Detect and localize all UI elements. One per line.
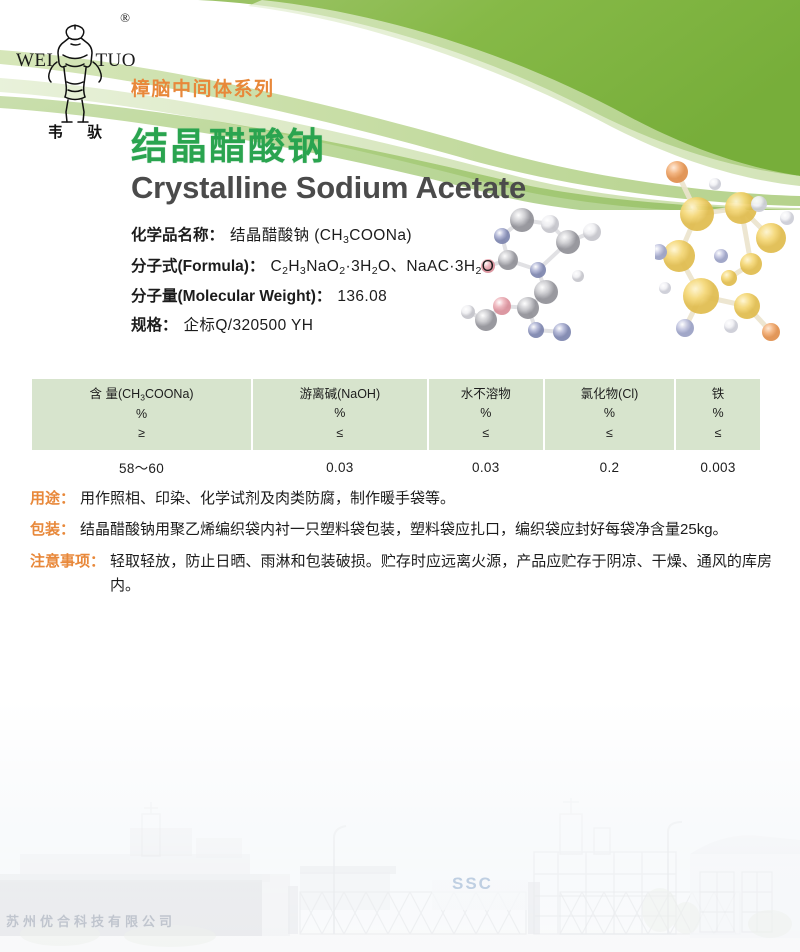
column-operator: ≥: [36, 424, 247, 443]
column-operator: ≤: [680, 424, 756, 443]
gate-logo-text: SSC: [452, 874, 493, 894]
specification-table: 含 量(CH3COONa) % ≥ 游离碱(NaOH) % ≤ 水不溶物 % ≤…: [32, 379, 760, 483]
table-value-cell: 0.03: [253, 450, 429, 483]
note-usage: 用途： 用作照相、印染、化学试剂及肉类防腐，制作暖手袋等。: [30, 487, 772, 511]
column-unit: %: [257, 404, 423, 423]
table-header-cell: 铁 % ≤: [676, 379, 760, 450]
table-value-cell: 0.003: [676, 450, 760, 483]
note-text: 结晶醋酸钠用聚乙烯编织袋内衬一只塑料袋包装，塑料袋应扎口，编织袋应封好每袋净含量…: [80, 518, 772, 542]
table-header-cell: 游离碱(NaOH) % ≤: [253, 379, 429, 450]
column-unit: %: [36, 405, 247, 424]
spec-label: 化学品名称：: [131, 226, 224, 245]
column-unit: %: [680, 404, 756, 423]
table-value-cell: 58～60: [32, 450, 253, 483]
spec-row: 分子量(Molecular Weight)： 136.08: [131, 287, 651, 306]
table-header-cell: 氯化物(Cl) % ≤: [545, 379, 676, 450]
spec-row: 分子式(Formula)： C2H3NaO2·3H2O、NaAC·3H2O: [131, 257, 651, 278]
note-label: 包装：: [30, 518, 75, 542]
column-operator: ≤: [433, 424, 539, 443]
page-title-cn: 结晶醋酸钠: [131, 128, 326, 165]
spec-value: 结晶醋酸钠 (CH3COONa): [230, 226, 412, 247]
brochure-page: ® WEI TUO: [0, 0, 800, 952]
factory-photo: 苏州优合科技有限公司 SSC: [0, 642, 800, 952]
column-operator: ≤: [257, 424, 423, 443]
column-operator: ≤: [549, 424, 670, 443]
column-name: 游离碱(NaOH): [257, 385, 423, 404]
table-value-cell: 0.2: [545, 450, 676, 483]
column-name: 铁: [680, 385, 756, 404]
column-name: 含 量(CH3COONa): [36, 385, 247, 405]
note-packaging: 包装： 结晶醋酸钠用聚乙烯编织袋内衬一只塑料袋包装，塑料袋应扎口，编织袋应封好每…: [30, 518, 772, 542]
column-unit: %: [549, 404, 670, 423]
column-name: 氯化物(Cl): [549, 385, 670, 404]
logo-text-cn: 韦 驮: [14, 121, 136, 142]
spec-value: 企标Q/320500 YH: [184, 316, 314, 335]
warrior-figure-icon: [44, 22, 106, 126]
molecule-model-gold-icon: [655, 160, 800, 360]
table-header-row: 含 量(CH3COONa) % ≥ 游离碱(NaOH) % ≤ 水不溶物 % ≤…: [32, 379, 760, 450]
table-value-cell: 0.03: [429, 450, 545, 483]
spec-row: 规格： 企标Q/320500 YH: [131, 316, 651, 335]
spec-value: C2H3NaO2·3H2O、NaAC·3H2O: [270, 257, 494, 278]
note-text: 轻取轻放，防止日晒、雨淋和包装破损。贮存时应远离火源，产品应贮存于阴凉、干燥、通…: [110, 550, 772, 599]
spec-row: 化学品名称： 结晶醋酸钠 (CH3COONa): [131, 226, 651, 247]
note-label: 注意事项：: [30, 550, 105, 574]
spec-value: 136.08: [337, 287, 387, 306]
column-name: 水不溶物: [433, 385, 539, 404]
product-spec-list: 化学品名称： 结晶醋酸钠 (CH3COONa) 分子式(Formula)： C2…: [131, 226, 651, 345]
product-series-label: 樟脑中间体系列: [131, 74, 275, 101]
table-value-row: 58～60 0.03 0.03 0.2 0.003: [32, 450, 760, 483]
note-text: 用作照相、印染、化学试剂及肉类防腐，制作暖手袋等。: [80, 487, 772, 511]
notes-section: 用途： 用作照相、印染、化学试剂及肉类防腐，制作暖手袋等。 包装： 结晶醋酸钠用…: [30, 487, 772, 605]
registered-trademark-icon: ®: [120, 10, 130, 26]
spec-label: 分子量(Molecular Weight)：: [131, 287, 331, 306]
spec-label: 规格：: [131, 316, 178, 335]
table-header-cell: 水不溶物 % ≤: [429, 379, 545, 450]
column-unit: %: [433, 404, 539, 423]
spec-label: 分子式(Formula)：: [131, 257, 264, 276]
note-label: 用途：: [30, 487, 75, 511]
factory-sign-text: 苏州优合科技有限公司: [6, 911, 176, 930]
page-title-en: Crystalline Sodium Acetate: [131, 172, 526, 203]
table-header-cell: 含 量(CH3COONa) % ≥: [32, 379, 253, 450]
note-precautions: 注意事项： 轻取轻放，防止日晒、雨淋和包装破损。贮存时应远离火源，产品应贮存于阴…: [30, 550, 772, 599]
company-logo: ® WEI TUO: [14, 8, 136, 140]
